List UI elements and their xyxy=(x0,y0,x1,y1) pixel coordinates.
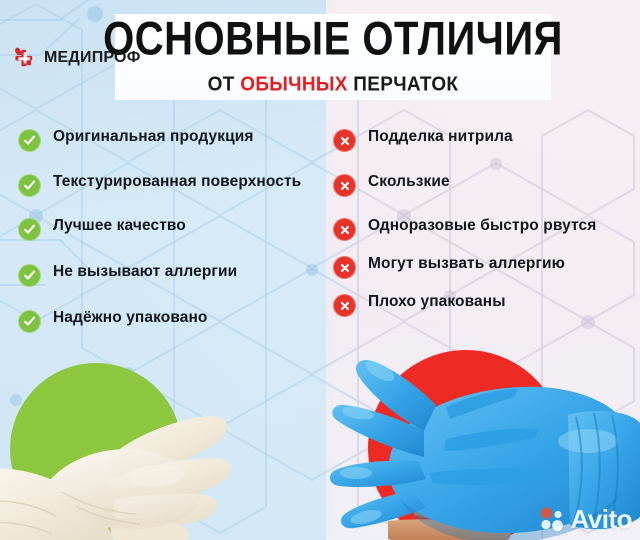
pros-item-label: Лучшее качество xyxy=(53,217,186,235)
check-circle-icon xyxy=(18,129,41,152)
list-item: Могут вызвать аллергию xyxy=(333,255,633,279)
cross-circle-icon xyxy=(333,294,356,317)
check-circle-icon xyxy=(18,218,41,241)
avito-watermark: Avito xyxy=(539,506,632,532)
list-item: Не вызывают аллергии xyxy=(18,263,318,287)
list-item: Оригинальная продукция xyxy=(18,128,318,152)
brand-name: МЕДИПРОФ xyxy=(44,49,141,67)
check-circle-icon xyxy=(18,310,41,333)
latex-glove-hand xyxy=(0,352,290,540)
cons-item-label: Одноразовые быстро рвутся xyxy=(368,217,596,235)
page-title: ОСНОВНЫЕ ОТЛИЧИЯ xyxy=(103,15,563,62)
avito-dots-icon xyxy=(539,506,565,532)
cons-item-label: Плохо упакованы xyxy=(368,293,506,311)
list-item: Скользкие xyxy=(333,173,633,197)
avito-watermark-label: Avito xyxy=(570,506,632,532)
subtitle-suffix: ПЕРЧАТОК xyxy=(348,73,459,95)
brand-logo: МЕДИПРОФ xyxy=(10,44,141,72)
list-item: Подделка нитрила xyxy=(333,128,633,152)
cross-circle-icon xyxy=(333,256,356,279)
pros-item-label: Не вызывают аллергии xyxy=(53,263,237,281)
cross-circle-icon xyxy=(333,129,356,152)
cons-item-label: Скользкие xyxy=(368,173,450,191)
imagery-zone: Avito xyxy=(0,345,640,540)
page-title-block: ОСНОВНЫЕ ОТЛИЧИЯ ОТ ОБЫЧНЫХ ПЕРЧАТОК xyxy=(115,16,551,100)
cross-circle-icon xyxy=(333,218,356,241)
poster-root: МЕДИПРОФ ОСНОВНЫЕ ОТЛИЧИЯ ОТ ОБЫЧНЫХ ПЕР… xyxy=(0,0,640,540)
list-item: Текстурированная поверхность xyxy=(18,173,318,197)
list-item: Надёжно упаковано xyxy=(18,309,318,333)
list-item: Одноразовые быстро рвутся xyxy=(333,217,633,241)
cons-item-label: Могут вызвать аллергию xyxy=(368,255,565,273)
cons-list: Подделка нитрила Скользкие Одноразовые б… xyxy=(333,128,633,334)
cons-item-label: Подделка нитрила xyxy=(368,128,513,146)
check-circle-icon xyxy=(18,174,41,197)
pros-item-label: Надёжно упаковано xyxy=(53,309,208,327)
subtitle-prefix: ОТ xyxy=(208,73,241,95)
pros-item-label: Оригинальная продукция xyxy=(53,128,254,146)
page-subtitle: ОТ ОБЫЧНЫХ ПЕРЧАТОК xyxy=(208,74,459,94)
subtitle-highlight: ОБЫЧНЫХ xyxy=(240,73,347,95)
medical-hand-cross-icon xyxy=(10,44,38,72)
pros-list: Оригинальная продукция Текстурированная … xyxy=(18,128,318,350)
pros-item-label: Текстурированная поверхность xyxy=(53,173,301,191)
list-item: Лучшее качество xyxy=(18,217,318,241)
cross-circle-icon xyxy=(333,174,356,197)
check-circle-icon xyxy=(18,264,41,287)
list-item: Плохо упакованы xyxy=(333,293,633,317)
